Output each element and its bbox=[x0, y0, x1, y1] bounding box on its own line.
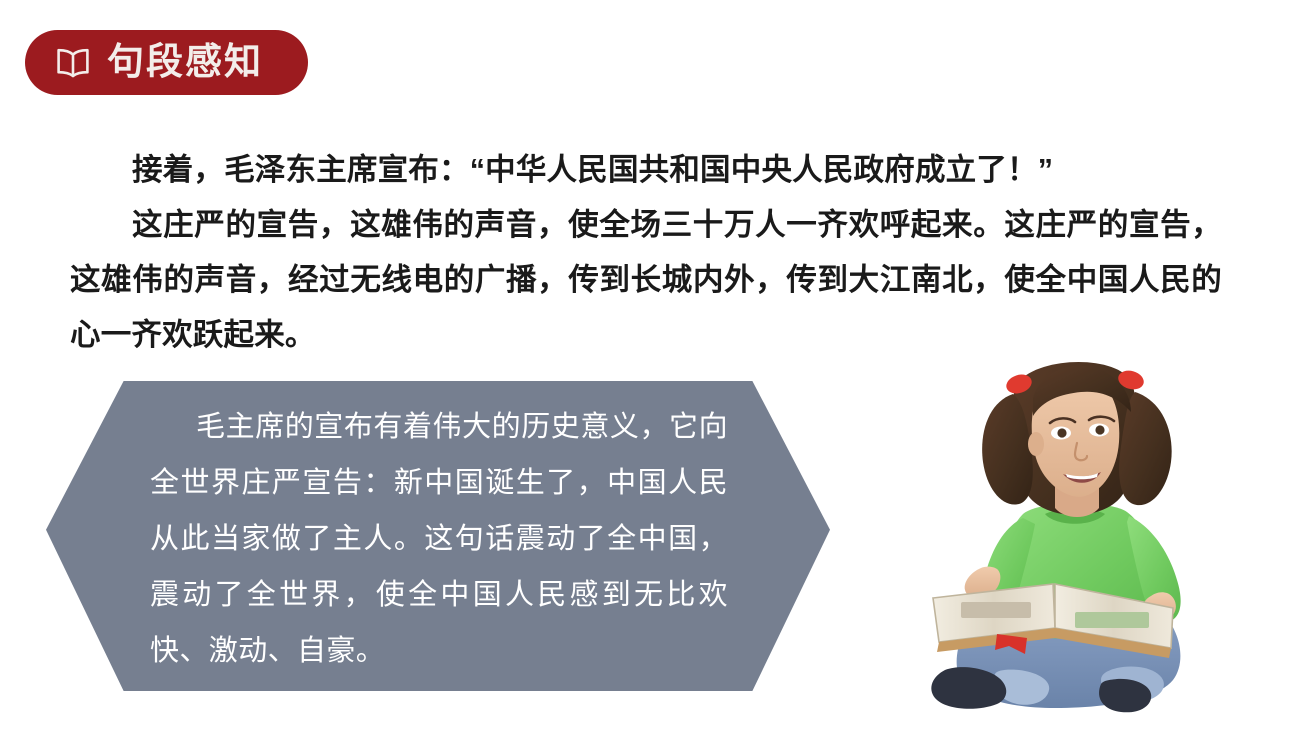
pupil-left bbox=[1057, 428, 1066, 437]
pupil-right bbox=[1095, 425, 1104, 434]
book-illustration-right bbox=[1075, 612, 1149, 628]
girl-reading-book-photo bbox=[905, 328, 1235, 729]
slide-canvas: 句段感知 接着，毛泽东主席宣布：“中华人民国共和国中央人民政府成立了！” 这庄严… bbox=[0, 0, 1296, 729]
open-book-icon bbox=[53, 47, 93, 79]
passage-paragraph-1: 接着，毛泽东主席宣布：“中华人民国共和国中央人民政府成立了！” bbox=[70, 143, 1222, 198]
ear-left bbox=[1028, 432, 1044, 456]
callout-text-block: 毛主席的宣布有着伟大的历史意义，它向全世界庄严宣告：新中国诞生了，中国人民从此当… bbox=[150, 399, 728, 679]
section-title-text: 句段感知 bbox=[107, 43, 263, 82]
section-title-badge[interactable]: 句段感知 bbox=[25, 30, 308, 95]
book-illustration-left bbox=[961, 602, 1031, 618]
callout-paragraph-1: 毛主席的宣布有着伟大的历史意义，它向全世界庄严宣告：新中国诞生了，中国人民从此当… bbox=[150, 399, 728, 679]
hexagon-callout: 毛主席的宣布有着伟大的历史意义，它向全世界庄严宣告：新中国诞生了，中国人民从此当… bbox=[46, 381, 830, 691]
